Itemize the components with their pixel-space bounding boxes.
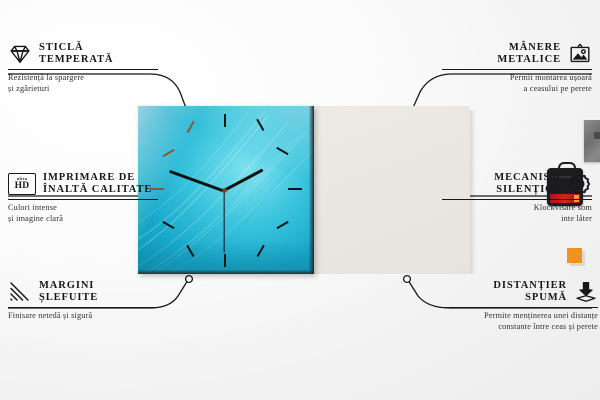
connector-dot xyxy=(186,276,193,283)
diagonal-lines-icon xyxy=(8,280,32,304)
divider xyxy=(8,69,158,70)
feature-mecanism-silentios: MECANISM SILENȚIOS Klockvisare som inte … xyxy=(442,172,592,224)
feature-title: MÂNERE METALICE xyxy=(497,42,561,66)
badge-large-text: HD xyxy=(15,182,30,192)
divider xyxy=(8,307,158,308)
title-line-1: STICLĂ xyxy=(39,42,113,54)
feature-manere-metalice: MÂNERE METALICE Permit montarea ușoară a… xyxy=(442,42,592,94)
foam-spacer xyxy=(567,248,582,263)
ultra-hd-badge-icon: ultra HD xyxy=(8,173,36,195)
sub-line-1: Permit montarea ușoară xyxy=(442,73,592,84)
diamond-icon xyxy=(8,42,32,66)
sub-line-2: a ceasului pe perete xyxy=(442,84,592,95)
sub-line-1: Finisare netedă și sigură xyxy=(8,311,158,322)
divider xyxy=(442,69,592,70)
title-line-2: ÎNALTĂ CALITATE xyxy=(43,184,152,196)
hanger-slot xyxy=(594,132,600,139)
feature-subtitle: Culori intense și imagine clară xyxy=(8,203,158,224)
divider xyxy=(8,199,158,200)
gear-icon xyxy=(568,172,592,196)
picture-frame-hanger-icon xyxy=(568,42,592,66)
metal-hanger xyxy=(584,120,600,162)
feature-subtitle: Permit montarea ușoară a ceasului pe per… xyxy=(442,73,592,94)
feature-title: STICLĂ TEMPERATĂ xyxy=(39,42,113,66)
arrow-down-pad-icon xyxy=(574,280,598,304)
title-line-1: MECANISM xyxy=(494,172,561,184)
infographic-stage: STICLĂ TEMPERATĂ Rezistență la spargere … xyxy=(0,0,600,400)
feature-title: IMPRIMARE DE ÎNALTĂ CALITATE xyxy=(43,172,152,196)
hand-cap xyxy=(222,188,227,193)
sub-line-2: inte låter xyxy=(442,214,592,225)
title-line-1: MARGINI xyxy=(39,280,98,292)
feature-subtitle: Klockvisare som inte låter xyxy=(442,203,592,224)
product-photo xyxy=(138,106,470,274)
feature-distantier-spuma: DISTANȚIER SPUMĂ Permite menținerea unei… xyxy=(442,280,598,332)
feature-subtitle: Finisare netedă și sigură xyxy=(8,311,158,322)
glass-edge-right xyxy=(309,106,314,274)
feature-sticla-temperata: STICLĂ TEMPERATĂ Rezistență la spargere … xyxy=(8,42,158,94)
clock-face xyxy=(138,106,314,274)
feature-margini-slefuite: MARGINI ȘLEFUITE Finisare netedă și sigu… xyxy=(8,280,158,322)
feature-title: DISTANȚIER SPUMĂ xyxy=(493,280,567,304)
tick-12 xyxy=(224,114,226,127)
feature-title: MECANISM SILENȚIOS xyxy=(494,172,561,196)
sub-line-1: Rezistență la spargere xyxy=(8,73,158,84)
sub-line-2: constante între ceas și perete xyxy=(442,322,598,333)
title-line-1: MÂNERE xyxy=(497,42,561,54)
title-line-2: METALICE xyxy=(497,54,561,66)
divider xyxy=(442,307,598,308)
feature-subtitle: Rezistență la spargere și zgârieturi xyxy=(8,73,158,94)
mechanism-hook xyxy=(558,162,576,172)
sub-line-2: și zgârieturi xyxy=(8,84,158,95)
sub-line-1: Culori intense xyxy=(8,203,158,214)
sub-line-1: Klockvisare som xyxy=(442,203,592,214)
sub-line-2: și imagine clară xyxy=(8,214,158,225)
feature-title: MARGINI ȘLEFUITE xyxy=(39,280,98,304)
sub-line-1: Permite menținerea unei distanțe xyxy=(442,311,598,322)
tick-3 xyxy=(288,188,302,190)
title-line-2: TEMPERATĂ xyxy=(39,54,113,66)
feature-imprimare-hd: ultra HD IMPRIMARE DE ÎNALTĂ CALITATE Cu… xyxy=(8,172,158,224)
title-line-2: SPUMĂ xyxy=(493,292,567,304)
divider xyxy=(442,199,592,200)
title-line-1: IMPRIMARE DE xyxy=(43,172,152,184)
title-line-2: SILENȚIOS xyxy=(494,184,561,196)
connector-dot xyxy=(404,276,411,283)
glass-edge-bottom xyxy=(138,270,314,274)
face-shade xyxy=(138,240,314,274)
feature-subtitle: Permite menținerea unei distanțe constan… xyxy=(442,311,598,332)
title-line-2: ȘLEFUITE xyxy=(39,292,98,304)
tick-6 xyxy=(224,254,226,267)
title-line-1: DISTANȚIER xyxy=(493,280,567,292)
